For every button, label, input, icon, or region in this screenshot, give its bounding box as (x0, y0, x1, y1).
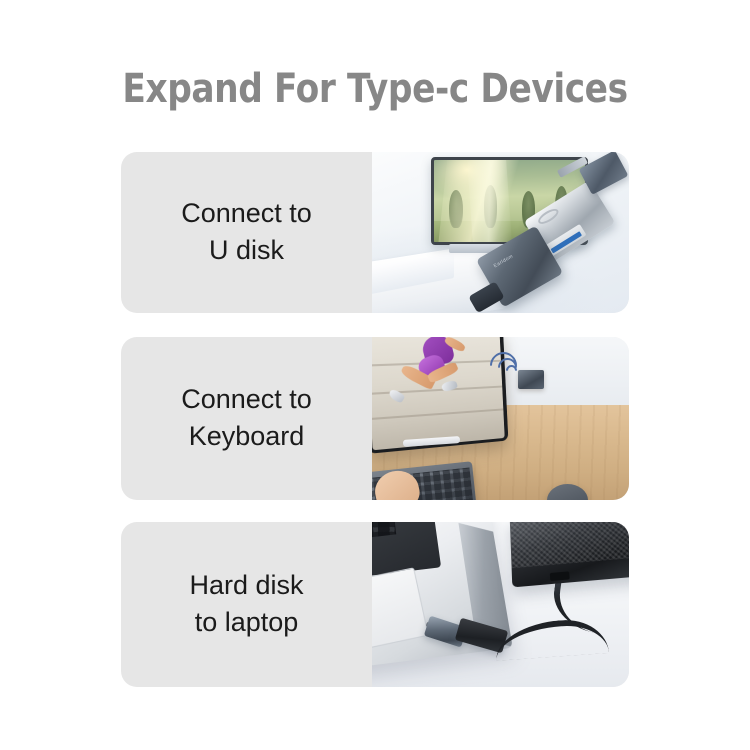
runner-shoe (440, 380, 457, 393)
feature-card-label: Connect to U disk (121, 152, 372, 313)
hard-drive-texture (509, 522, 629, 568)
hard-drive-port (550, 571, 570, 581)
adapter-brand-text: Earldom (493, 253, 515, 269)
product-feature-page: Expand For Type-c Devices Connect to U d… (0, 0, 750, 750)
feature-card: Connect to U disk Earldom (121, 152, 629, 313)
sun-ray (467, 157, 513, 246)
wireless-dongle (518, 370, 544, 390)
feature-card-label: Hard disk to laptop (121, 522, 372, 687)
laptop-trackpad (372, 567, 429, 652)
feature-card: Hard disk to laptop (121, 522, 629, 687)
external-hard-drive (509, 522, 629, 587)
laptop-keys (372, 522, 396, 542)
page-title: Expand For Type-c Devices (53, 66, 698, 112)
feature-card-label: Connect to Keyboard (121, 337, 372, 500)
feature-card-photo-hard-disk (372, 522, 629, 687)
track-line (372, 409, 503, 420)
feature-card-photo-u-disk: Earldom (372, 152, 629, 313)
feature-card-photo-keyboard (372, 337, 629, 500)
tablet-screen-runner (372, 337, 504, 451)
feature-card: Connect to Keyboard (121, 337, 629, 500)
